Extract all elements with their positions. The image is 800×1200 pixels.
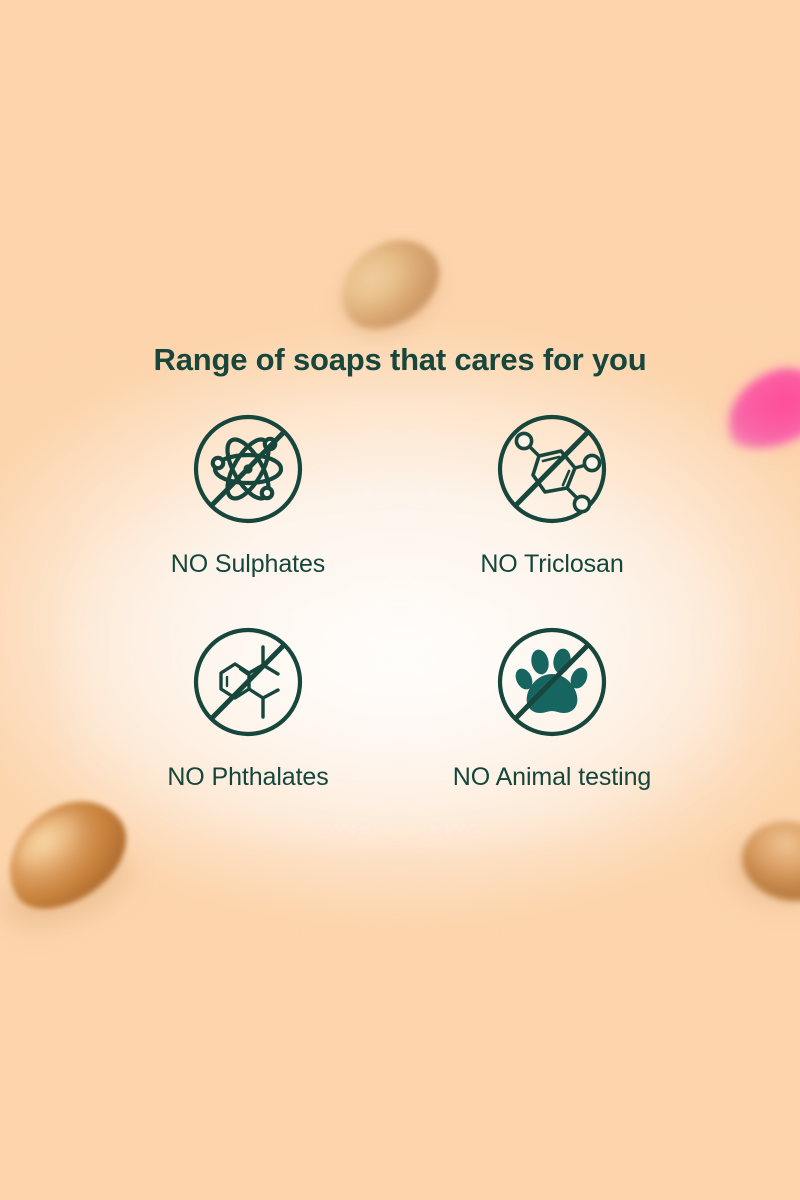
claim-label: NO Animal testing — [453, 763, 651, 792]
claim-label: NO Phthalates — [167, 763, 328, 792]
claim-label: NO Triclosan — [480, 550, 623, 579]
claim-label: NO Sulphates — [171, 550, 325, 579]
claim-no-sulphates: NO Sulphates — [96, 408, 400, 579]
promo-poster: Range of soaps that cares for you — [0, 0, 800, 1200]
claims-grid: NO Sulphates — [96, 408, 704, 792]
no-atom-icon — [187, 408, 309, 530]
claim-no-phthalates: NO Phthalates — [96, 621, 400, 792]
no-molecule-icon — [491, 408, 613, 530]
claim-no-animal-testing: NO Animal testing — [400, 621, 704, 792]
no-chemical-structure-icon — [187, 621, 309, 743]
claim-no-triclosan: NO Triclosan — [400, 408, 704, 579]
page-title: Range of soaps that cares for you — [0, 342, 800, 378]
poster-content: Range of soaps that cares for you — [0, 0, 800, 1200]
no-paw-icon — [491, 621, 613, 743]
